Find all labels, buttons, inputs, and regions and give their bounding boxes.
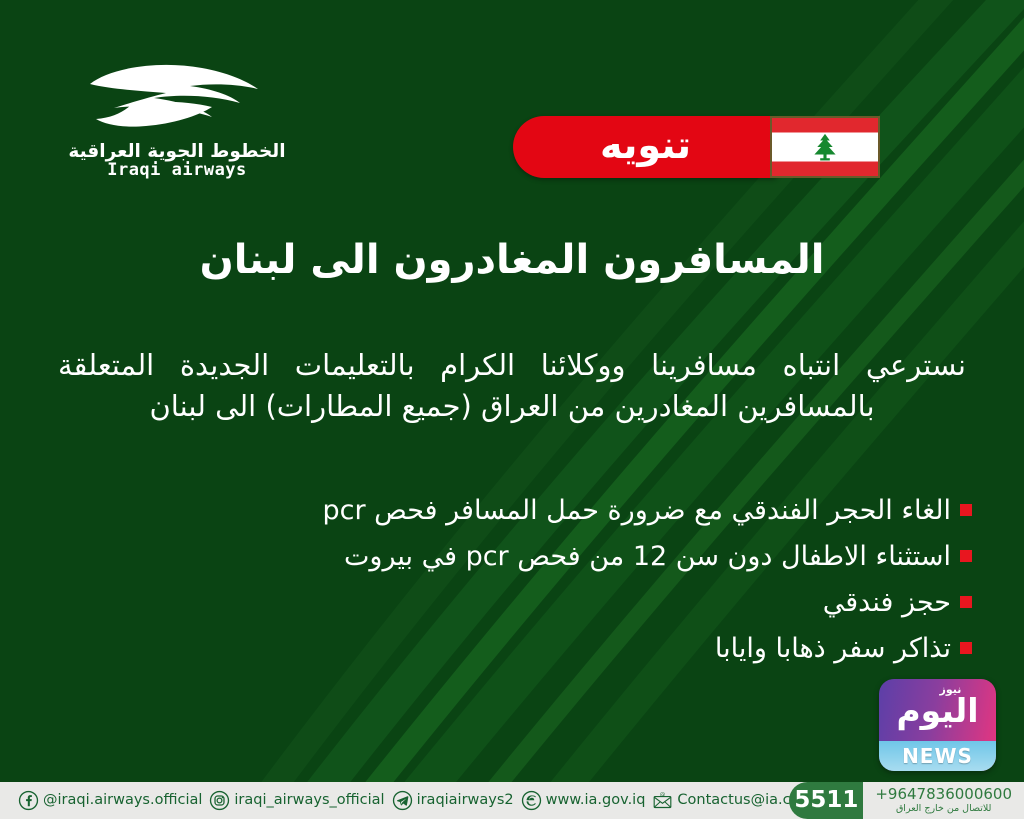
list-item-label: حجز فندقي <box>823 589 951 616</box>
facebook-handle: @iraqi.airways.official <box>43 793 202 808</box>
instagram-icon <box>209 790 230 811</box>
list-item: حجز فندقي <box>60 579 972 625</box>
lebanon-flag-icon <box>770 116 880 178</box>
international-number-caption: للاتصال من خارج العراق <box>875 803 1012 814</box>
international-number-block: +9647836000600 للاتصال من خارج العراق <box>863 787 1024 814</box>
notice-body-paragraph: نسترعي انتباه مسافرينا ووكلائنا الكرام ب… <box>58 345 966 427</box>
list-item-label: الغاء الحجر الفندقي مع ضرورة حمل المسافر… <box>322 497 951 524</box>
telegram-handle: iraqiairways2 <box>417 793 514 808</box>
list-item-label: تذاكر سفر ذهابا وايابا <box>715 635 951 662</box>
list-item: الغاء الحجر الفندقي مع ضرورة حمل المسافر… <box>60 487 972 533</box>
social-facebook[interactable]: @iraqi.airways.official <box>18 790 202 811</box>
notice-poster: الخطوط الجوية العراقية Iraqi airways تنو… <box>0 0 1024 819</box>
bullet-square-icon <box>960 596 972 608</box>
svg-text:@: @ <box>660 792 665 798</box>
email-icon: @ <box>652 790 673 811</box>
notice-body: نسترعي انتباه مسافرينا ووكلائنا الكرام ب… <box>58 345 966 427</box>
social-telegram[interactable]: iraqiairways2 <box>392 790 514 811</box>
iraqi-airways-bird-icon <box>62 62 292 140</box>
brand-name-arabic: الخطوط الجوية العراقية <box>62 142 292 161</box>
social-website[interactable]: www.ia.gov.iq <box>521 790 646 811</box>
news-logo-english-band: NEWS <box>879 741 996 771</box>
bullet-square-icon <box>960 550 972 562</box>
requirements-list: الغاء الحجر الفندقي مع ضرورة حمل المسافر… <box>60 487 972 671</box>
alyoum-news-logo: اليوم نيوز NEWS <box>879 679 996 771</box>
news-logo-arabic-main: اليوم <box>896 694 978 727</box>
page-title: المسافرون المغادرون الى لبنان <box>0 236 1024 284</box>
notice-banner: تنويه <box>513 116 778 178</box>
list-item: تذاكر سفر ذهابا وايابا <box>60 625 972 671</box>
social-instagram[interactable]: iraqi_airways_official <box>209 790 384 811</box>
iraqi-airways-logo: الخطوط الجوية العراقية Iraqi airways <box>62 62 292 192</box>
notice-banner-label: تنويه <box>600 126 691 164</box>
facebook-icon <box>18 790 39 811</box>
bullet-square-icon <box>960 642 972 654</box>
hotline-number: 5511 <box>794 789 858 812</box>
list-item-label: استثناء الاطفال دون سن 12 من فحص pcr في … <box>344 543 951 570</box>
telegram-icon <box>392 790 413 811</box>
website-url: www.ia.gov.iq <box>546 793 646 808</box>
list-item: استثناء الاطفال دون سن 12 من فحص pcr في … <box>60 533 972 579</box>
instagram-handle: iraqi_airways_official <box>234 793 384 808</box>
brand-name-english: Iraqi airways <box>62 161 292 181</box>
hotline-block: 5511 +9647836000600 للاتصال من خارج العر… <box>789 782 1024 819</box>
news-logo-arabic: اليوم نيوز <box>879 679 996 741</box>
internet-explorer-icon <box>521 790 542 811</box>
hotline-badge[interactable]: 5511 <box>789 782 863 819</box>
international-number: +9647836000600 <box>875 787 1012 803</box>
news-logo-english-label: NEWS <box>902 746 973 766</box>
bullet-square-icon <box>960 504 972 516</box>
news-logo-arabic-sub: نيوز <box>940 684 962 695</box>
